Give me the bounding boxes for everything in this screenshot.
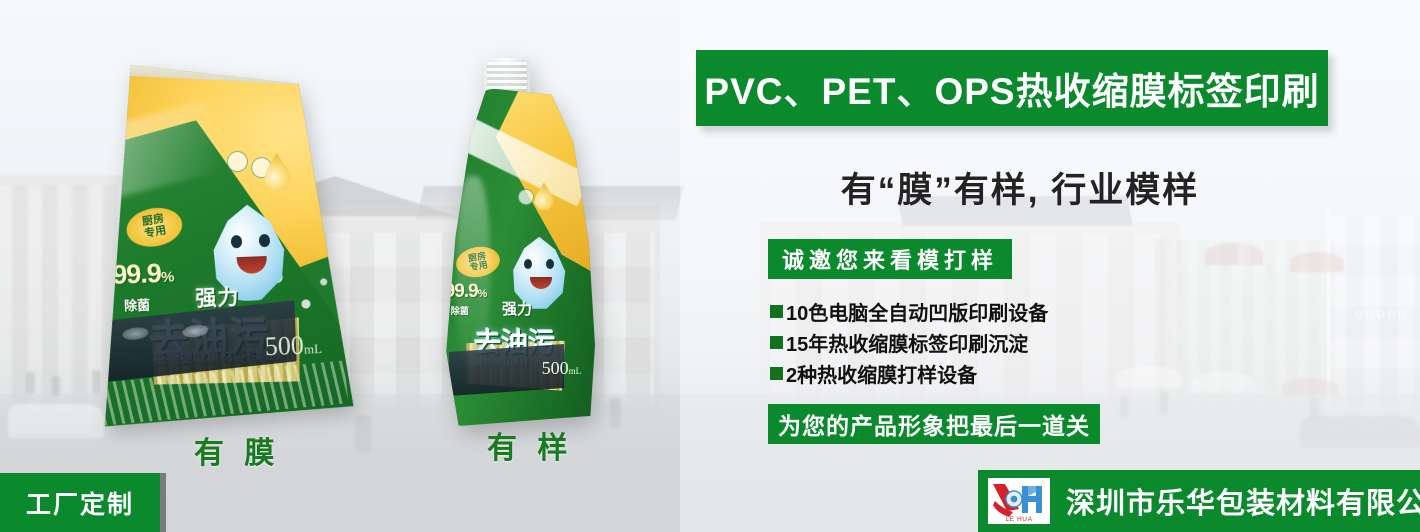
strength-label: 强力: [502, 298, 532, 319]
svg-text:LE HUA: LE HUA: [1005, 516, 1032, 523]
factory-badge-text: 工厂定制: [26, 485, 134, 521]
invite-text: 诚邀您来看模打样: [782, 243, 998, 275]
caption-style: 有 样: [487, 423, 573, 467]
caption-film: 有 膜: [194, 428, 280, 472]
product-bottle: 厨房 专用 99.9% 除菌 强力 去油污 植物提取原材, 不刺激 500mL: [440, 58, 595, 426]
bottle-gloss-highlight: [456, 176, 490, 372]
feature-text: 10色电脑全自动凹版印刷设备: [786, 297, 1048, 326]
feature-text: 2种热收缩膜打样设备: [786, 359, 977, 388]
factory-custom-badge: 工厂定制: [0, 473, 160, 532]
subheadline-text: 有“膜”有样, 行业模样: [841, 162, 1199, 213]
subheadline: 有“膜”有样, 行业模样: [760, 158, 1280, 216]
volume-unit: mL: [569, 366, 582, 376]
feature-text: 15年热收缩膜标签印刷沉淀: [786, 328, 1028, 357]
headline-banner: PVC、PET、OPS热收缩膜标签印刷: [696, 50, 1328, 126]
company-bar: LE HUA 深圳市乐华包装材料有限公司: [978, 470, 1420, 532]
sterilize-percent: 99.9%: [112, 258, 174, 291]
mascot-eye: [546, 259, 554, 269]
volume-unit: mL: [304, 341, 323, 357]
company-logo: LE HUA: [988, 478, 1050, 524]
le-hua-logo-icon: LE HUA: [989, 479, 1049, 523]
green-square-bullet-icon: [770, 305, 783, 318]
pouch-body: 厨房 专用 99.9% 除菌 强力 去油污 植物提取原材, 不刺激 500: [75, 57, 354, 427]
volume-value: 500: [264, 331, 304, 361]
bottle-body: 厨房 专用 99.9% 除菌 强力 去油污 植物提取原材, 不刺激 500mL: [440, 88, 595, 426]
percent-unit: %: [161, 269, 174, 286]
mascot-mouth: [236, 256, 267, 274]
mascot-eye: [258, 234, 269, 247]
company-name: 深圳市乐华包装材料有限公司: [1066, 480, 1420, 522]
feature-list: 10色电脑全自动凹版印刷设备 15年热收缩膜标签印刷沉淀 2种热收缩膜打样设备: [770, 296, 1048, 389]
volume-label: 500mL: [264, 330, 322, 362]
closing-text: 为您的产品形象把最后一道关: [778, 407, 1090, 441]
percent-value: 99.9: [112, 258, 162, 290]
closing-bar: 为您的产品形象把最后一道关: [768, 404, 1100, 444]
mascot-eye: [524, 259, 532, 269]
product-pouch: 厨房 专用 99.9% 除菌 强力 去油污 植物提取原材, 不刺激 500: [75, 57, 354, 427]
stove-burner-icon: [122, 327, 148, 342]
kitchen-badge-line2: 专用: [144, 225, 168, 240]
volume-label: 500mL: [542, 358, 582, 379]
mascot-mouth: [530, 277, 552, 289]
green-square-bullet-icon: [770, 336, 783, 349]
list-item: 10色电脑全自动凹版印刷设备: [770, 296, 1048, 327]
invite-bar: 诚邀您来看模打样: [768, 239, 1012, 279]
sterilize-label: 除菌: [124, 295, 151, 315]
volume-value: 500: [542, 358, 569, 378]
list-item: 2种热收缩膜打样设备: [770, 358, 1048, 389]
stove-burner-icon: [182, 324, 208, 339]
mascot-eye: [230, 235, 241, 248]
headline-text: PVC、PET、OPS热收缩膜标签印刷: [704, 61, 1319, 115]
eco-badge-icon: [518, 189, 534, 205]
green-square-bullet-icon: [770, 367, 783, 380]
list-item: 15年热收缩膜标签印刷沉淀: [770, 327, 1048, 358]
promo-banner: onono 厨房 专用: [0, 0, 1420, 532]
